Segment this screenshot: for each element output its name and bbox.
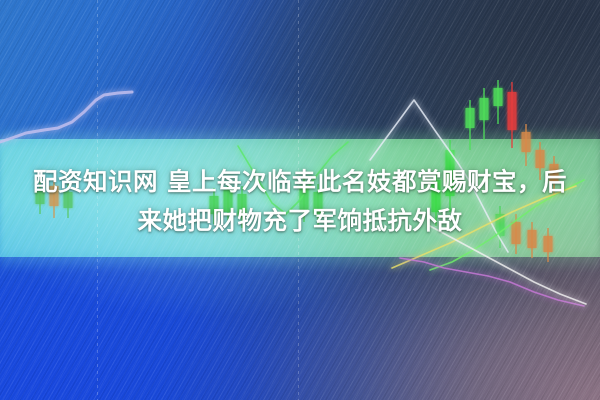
trend-line [0,92,132,142]
candle-body [522,132,531,152]
headline-text: 配资知识网 皇上每次临幸此名妓都赏赐财宝，后 来她把财物充了军饷抵抗外敌 [0,162,600,240]
candle-body [508,92,517,130]
trend-line [400,258,584,306]
candle-body [466,108,475,128]
thumbnail-banner: 配资知识网 皇上每次临幸此名妓都赏赐财宝，后 来她把财物充了军饷抵抗外敌 [0,0,600,400]
headline-line-2: 来她把财物充了军饷抵抗外敌 [0,201,600,240]
candle-body [480,98,489,120]
headline-line-1: 配资知识网 皇上每次临幸此名妓都赏赐财宝，后 [0,162,600,201]
candle-body [494,88,503,106]
